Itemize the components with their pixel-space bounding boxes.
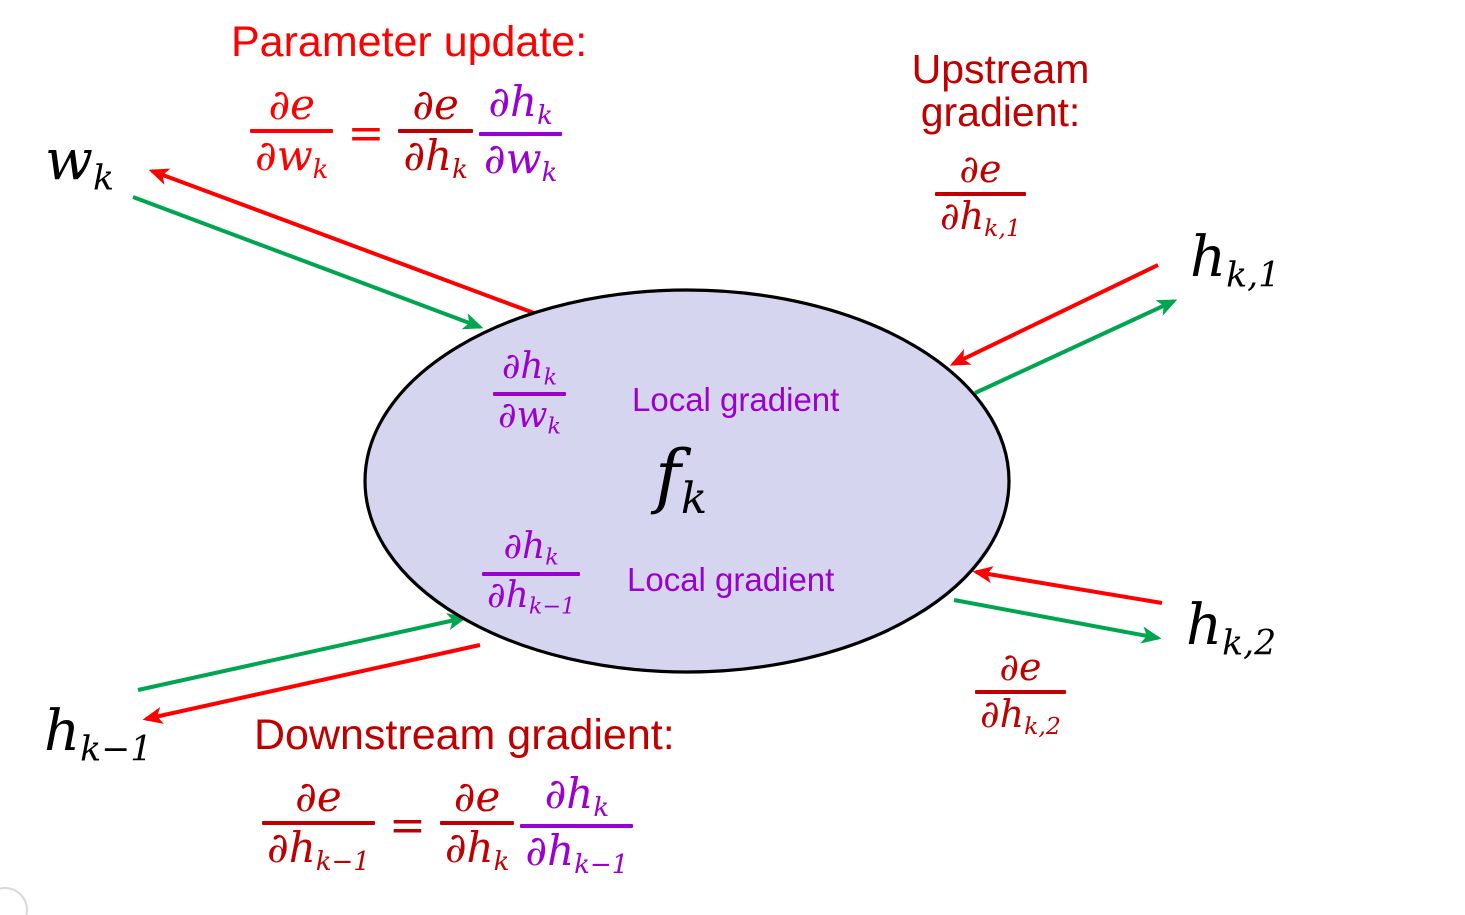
diagram-canvas: Parameter update: ∂e ∂wk = ∂e ∂hk ∂hk <box>0 0 1465 915</box>
local-gradient-label-1: Local gradient <box>632 383 839 418</box>
upstream-gradient-fraction: ∂e ∂hk,1 <box>935 150 1026 241</box>
arrow-forward-to-hk2 <box>954 600 1158 638</box>
arrow-forward-from-hk-prev <box>138 618 464 690</box>
downstream-gradient-title: Downstream gradient: <box>254 713 675 758</box>
variable-label-hk2: hk,2 <box>1186 596 1276 662</box>
param-update-lhs: ∂e ∂wk <box>250 83 333 184</box>
param-update-rhs1: ∂e ∂hk <box>398 83 473 184</box>
parameter-update-equation: ∂e ∂wk = ∂e ∂hk ∂hk ∂wk <box>250 80 562 187</box>
downstream-lhs: ∂e ∂hk−1 <box>262 775 375 876</box>
local-gradient-label-2: Local gradient <box>627 563 834 598</box>
lower-right-gradient-fraction: ∂e ∂hk,2 <box>975 648 1066 739</box>
function-label: fk <box>655 440 707 523</box>
equals-sign: = <box>389 803 426 849</box>
local-gradient-h-fraction: ∂hk ∂hk−1 <box>482 528 580 619</box>
arrow-backward-to-hk-prev <box>146 645 480 719</box>
variable-label-wk: wk <box>45 131 114 197</box>
parameter-update-title: Parameter update: <box>231 20 587 65</box>
variable-label-hk1: hk,1 <box>1190 228 1280 294</box>
arrow-backward-to-wk <box>152 171 534 313</box>
arrow-forward-from-wk <box>133 197 480 327</box>
arrow-backward-from-hk2 <box>976 572 1162 603</box>
downstream-gradient-equation: ∂e ∂hk−1 = ∂e ∂hk ∂hk ∂hk−1 <box>262 772 633 879</box>
local-gradient-w-fraction: ∂hk ∂wk <box>493 348 566 439</box>
arrow-forward-to-hk1 <box>975 301 1174 393</box>
arrow-backward-from-hk1 <box>953 265 1158 364</box>
upstream-gradient-title: Upstream gradient: <box>893 48 1108 134</box>
equals-sign: = <box>347 111 384 157</box>
param-update-rhs2: ∂hk ∂wk <box>479 80 562 187</box>
downstream-rhs1: ∂e ∂hk <box>440 775 515 876</box>
variable-label-hk-minus-1: hk−1 <box>44 702 152 768</box>
arrow-layer <box>0 0 1465 915</box>
downstream-rhs2: ∂hk ∂hk−1 <box>520 772 633 879</box>
